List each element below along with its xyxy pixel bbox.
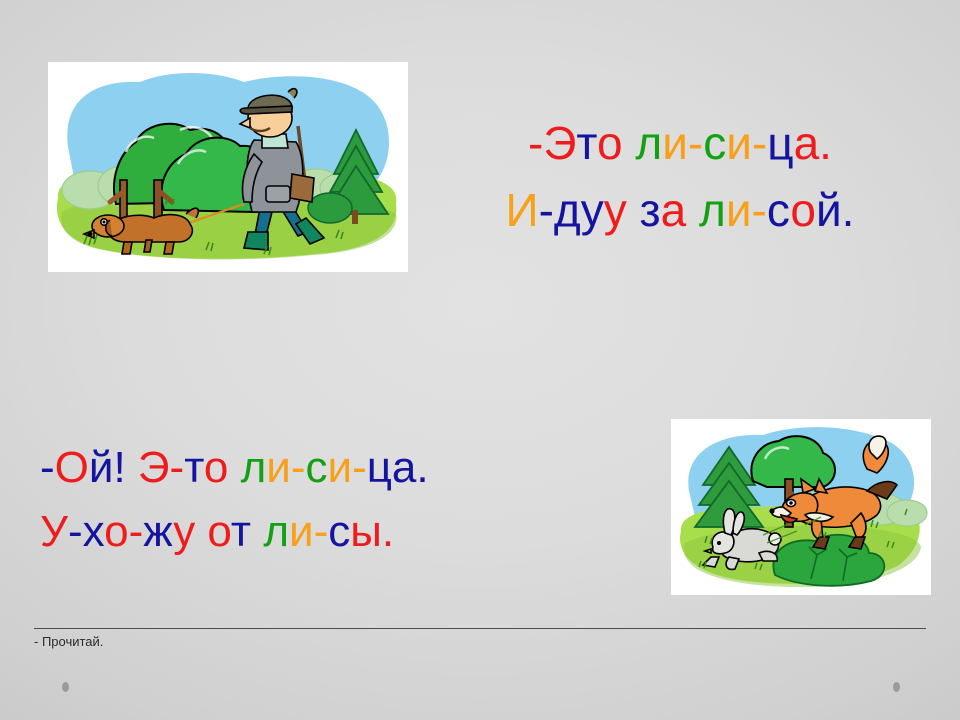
syllable-segment: у о	[173, 507, 231, 556]
reading-line-4: У-хо-жу от ли-сы.	[40, 500, 620, 564]
syllable-segment: а	[661, 184, 699, 236]
syllable-segment: с	[328, 507, 350, 556]
syllable-segment: ж	[143, 507, 173, 556]
decorative-dot-left	[62, 682, 69, 692]
syllable-segment: и-	[266, 443, 305, 492]
syllable-segment: и-	[289, 507, 328, 556]
footer-note: - Прочитай.	[34, 634, 103, 649]
hunter-scene-svg	[48, 62, 408, 272]
syllable-segment: и-	[328, 443, 367, 492]
reading-line-3: -Ой! Э-то ли-си-ца.	[40, 436, 620, 500]
syllable-segment: ца.	[367, 443, 429, 492]
syllable-segment: с	[306, 443, 328, 492]
reading-line-group-top: -Это ли-си-ца. И-дуу за ли-сой.	[430, 110, 930, 243]
syllable-segment: ц	[767, 117, 793, 169]
hunter-with-dog-illustration	[48, 62, 408, 272]
syllable-segment: а.	[794, 117, 832, 169]
syllable-segment: и-	[726, 184, 767, 236]
syllable-segment: й!	[89, 443, 138, 492]
syllable-segment: с	[767, 184, 791, 236]
syllable-segment: У	[40, 507, 68, 556]
syllable-segment: й.	[816, 184, 854, 236]
syllable-segment: т	[231, 507, 263, 556]
syllable-segment: и-	[726, 117, 767, 169]
footer-divider	[34, 628, 926, 629]
reading-line-2: И-дуу за ли-сой.	[430, 177, 930, 244]
syllable-segment: з	[627, 184, 661, 236]
syllable-segment: -х	[68, 507, 104, 556]
syllable-segment: и-	[662, 117, 703, 169]
syllable-segment: л	[241, 443, 267, 492]
decorative-dot-right	[893, 682, 900, 692]
syllable-segment: л	[263, 507, 289, 556]
slide-canvas: -Это ли-си-ца. И-дуу за ли-сой. -Ой! Э-т…	[0, 0, 960, 720]
syllable-segment: т	[576, 117, 597, 169]
fox-scene-svg	[671, 419, 931, 595]
syllable-segment: л	[635, 117, 662, 169]
syllable-segment: Э-	[138, 443, 184, 492]
reading-line-1: -Это ли-си-ца.	[430, 110, 930, 177]
syllable-segment: -	[40, 443, 55, 492]
syllable-segment: -ду	[539, 184, 604, 236]
syllable-segment: о-	[104, 507, 143, 556]
syllable-segment: о	[790, 184, 816, 236]
reading-line-group-bottom: -Ой! Э-то ли-си-ца. У-хо-жу от ли-сы.	[40, 436, 620, 564]
syllable-segment: -Э	[528, 117, 576, 169]
syllable-segment: о	[597, 117, 635, 169]
syllable-segment: л	[699, 184, 726, 236]
syllable-segment: т	[184, 443, 204, 492]
syllable-segment: ы.	[350, 507, 394, 556]
syllable-segment: О	[55, 443, 89, 492]
syllable-segment: И	[506, 184, 539, 236]
syllable-segment: о	[204, 443, 241, 492]
fox-chasing-rabbit-illustration	[671, 419, 931, 595]
syllable-segment: у	[604, 184, 627, 236]
syllable-segment: с	[703, 117, 726, 169]
